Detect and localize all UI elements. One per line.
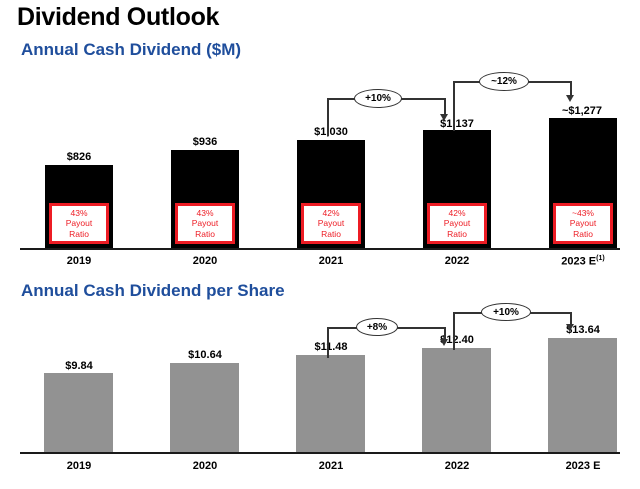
- ps-category-label-2023e: 2023 E: [548, 460, 618, 472]
- axis-baseline-top: [20, 248, 620, 250]
- payout-percent-2023e: ~43%: [572, 208, 594, 219]
- payout-line1-2022: Payout: [444, 218, 470, 229]
- chart-dividend-total: $826 $936 $1,030 $1,137 ~$1,277 43% Payo…: [0, 70, 640, 275]
- payout-line2-2022: Ratio: [447, 229, 467, 240]
- ps-bar-value-2021: $11.48: [296, 341, 366, 353]
- chart-title-dividend-per-share: Annual Cash Dividend per Share: [21, 281, 285, 301]
- footnote-marker-2023e: (1): [596, 255, 605, 262]
- payout-percent-2021: 42%: [322, 208, 339, 219]
- payout-line1-2020: Payout: [192, 218, 218, 229]
- ps-bar-value-2022: $12.40: [422, 334, 492, 346]
- chart-dividend-per-share: $9.84 $10.64 $11.48 $12.40 $13.64 +8% +1…: [0, 305, 640, 489]
- category-label-2019: 2019: [44, 255, 114, 267]
- ps-category-label-2022: 2022: [422, 460, 492, 472]
- payout-line1-2019: Payout: [66, 218, 92, 229]
- payout-percent-2022: 42%: [448, 208, 465, 219]
- chart-title-dividend-total: Annual Cash Dividend ($M): [21, 40, 241, 60]
- slide-root: Dividend Outlook Annual Cash Dividend ($…: [0, 0, 640, 489]
- category-label-2020: 2020: [170, 255, 240, 267]
- ps-bar-2022: [422, 348, 491, 452]
- growth-badge-2021-2022: +10%: [354, 89, 402, 108]
- payout-line2-2019: Ratio: [69, 229, 89, 240]
- ps-category-label-2021: 2021: [296, 460, 366, 472]
- bar-value-2023e: ~$1,277: [541, 105, 623, 117]
- ps-bar-2021: [296, 355, 365, 452]
- ps-growth-badge-2022-2023e: +10%: [481, 303, 531, 321]
- axis-baseline-bottom: [20, 452, 620, 454]
- page-title: Dividend Outlook: [17, 3, 219, 32]
- payout-ratio-box-2020: 43% Payout Ratio: [175, 203, 235, 244]
- payout-ratio-box-2022: 42% Payout Ratio: [427, 203, 487, 244]
- payout-percent-2020: 43%: [196, 208, 213, 219]
- payout-line2-2023e: Ratio: [573, 229, 593, 240]
- payout-line2-2020: Ratio: [195, 229, 215, 240]
- growth-badge-2022-2023e: ~12%: [479, 72, 529, 91]
- ps-growth-badge-2021-2022: +8%: [356, 318, 398, 336]
- payout-line1-2021: Payout: [318, 218, 344, 229]
- ps-bar-2019: [44, 373, 113, 452]
- ps-bar-value-2020: $10.64: [170, 349, 240, 361]
- category-label-2023e: 2023 E(1): [543, 255, 623, 268]
- ps-bar-2020: [170, 363, 239, 452]
- ps-bar-2023e: [548, 338, 617, 452]
- payout-line2-2021: Ratio: [321, 229, 341, 240]
- ps-category-label-2020: 2020: [170, 460, 240, 472]
- payout-ratio-box-2019: 43% Payout Ratio: [49, 203, 109, 244]
- category-label-2023e-text: 2023 E: [561, 256, 596, 268]
- category-label-2021: 2021: [296, 255, 366, 267]
- ps-bar-value-2019: $9.84: [44, 360, 114, 372]
- ps-category-label-2019: 2019: [44, 460, 114, 472]
- ps-bar-value-2023e: $13.64: [548, 324, 618, 336]
- payout-line1-2023e: Payout: [570, 218, 596, 229]
- bar-value-2019: $826: [44, 151, 114, 163]
- payout-ratio-box-2023e: ~43% Payout Ratio: [553, 203, 613, 244]
- category-label-2022: 2022: [422, 255, 492, 267]
- bar-value-2020: $936: [170, 136, 240, 148]
- bar-value-2022: $1,137: [422, 118, 492, 130]
- payout-percent-2019: 43%: [70, 208, 87, 219]
- payout-ratio-box-2021: 42% Payout Ratio: [301, 203, 361, 244]
- bar-value-2021: $1,030: [296, 126, 366, 138]
